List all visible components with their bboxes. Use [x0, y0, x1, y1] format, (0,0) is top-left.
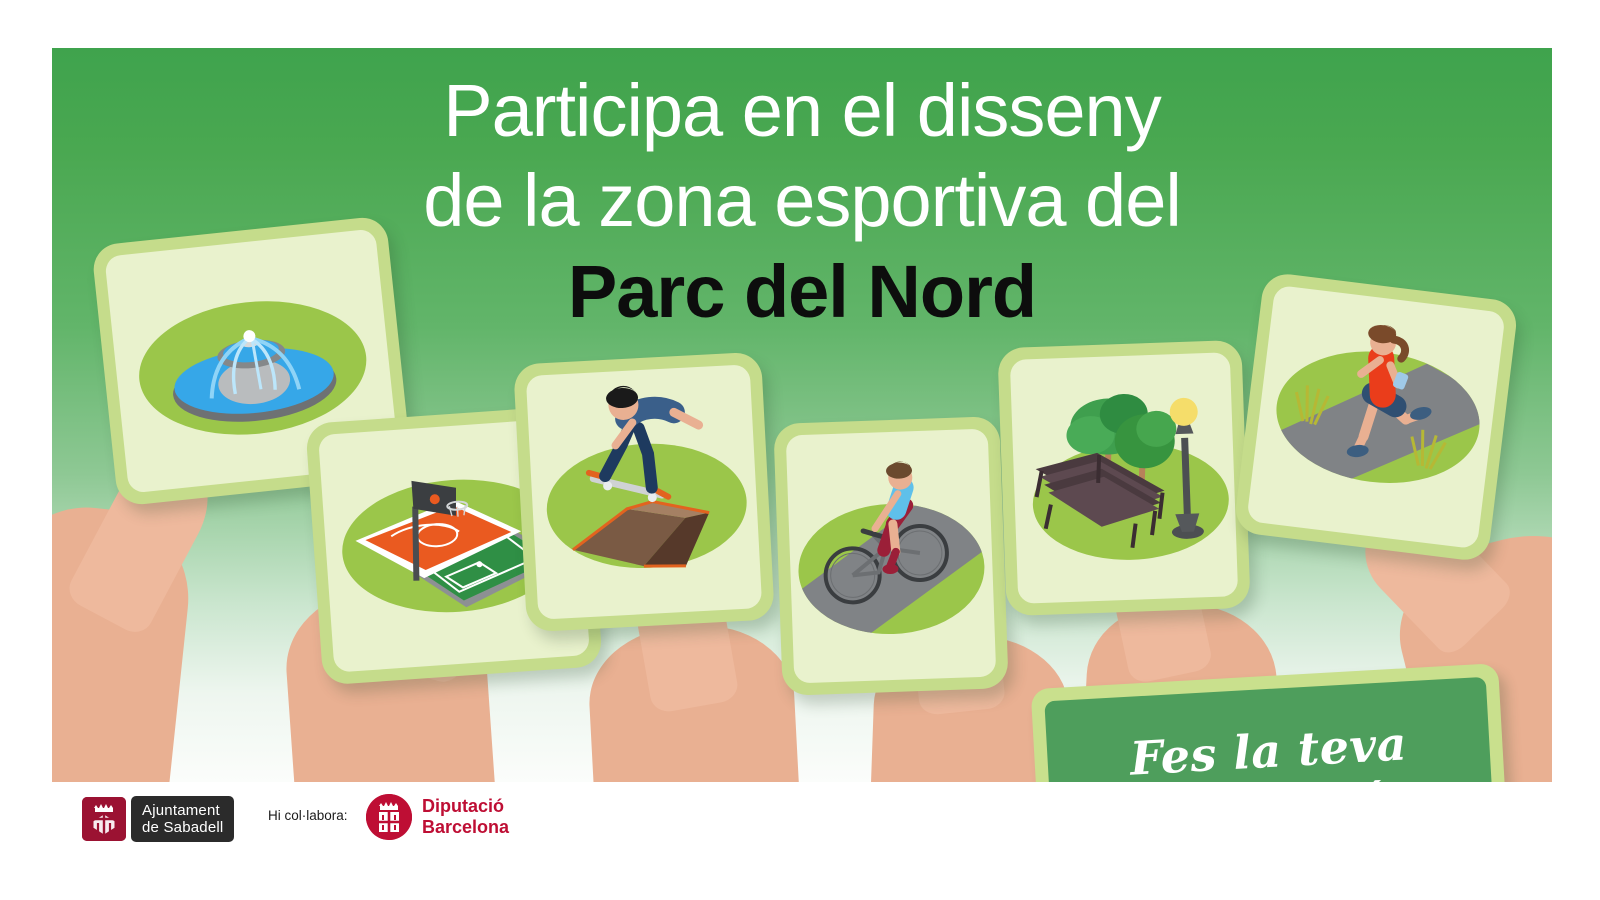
card-bench-inner	[1010, 352, 1238, 604]
card-bike[interactable]	[773, 416, 1008, 696]
runner-icon	[1246, 285, 1505, 549]
card-bench[interactable]	[997, 340, 1250, 616]
diputacio-line-1: Diputació	[422, 796, 509, 817]
park-bench-icon	[1010, 352, 1238, 604]
card-skate[interactable]	[513, 352, 775, 633]
footer-bar: Ajuntament de Sabadell Hi col·labora: Di…	[0, 782, 1600, 900]
sabadell-crest-icon	[82, 797, 126, 841]
skateboard-ramp-icon	[526, 364, 762, 619]
ajuntament-line-2: de Sabadell	[142, 819, 223, 836]
headline-line-1: Participa en el disseny	[52, 66, 1552, 156]
card-skate-inner	[526, 364, 762, 619]
ajuntament-logo[interactable]: Ajuntament de Sabadell	[82, 796, 234, 842]
diputacio-wordmark: Diputació Barcelona	[422, 796, 509, 838]
bicycle-icon	[786, 429, 997, 684]
banner-root: Participa en el disseny de la zona espor…	[0, 0, 1600, 900]
diputacio-logo[interactable]: Diputació Barcelona	[366, 794, 509, 840]
collaborator-label: Hi col·labora:	[268, 808, 348, 823]
diputacio-crest-icon	[366, 794, 412, 840]
card-running[interactable]	[1233, 271, 1519, 562]
ajuntament-wordmark: Ajuntament de Sabadell	[131, 796, 234, 842]
diputacio-line-2: Barcelona	[422, 817, 509, 838]
card-running-inner	[1246, 285, 1505, 549]
card-bike-inner	[786, 429, 997, 684]
ajuntament-line-1: Ajuntament	[142, 802, 223, 819]
